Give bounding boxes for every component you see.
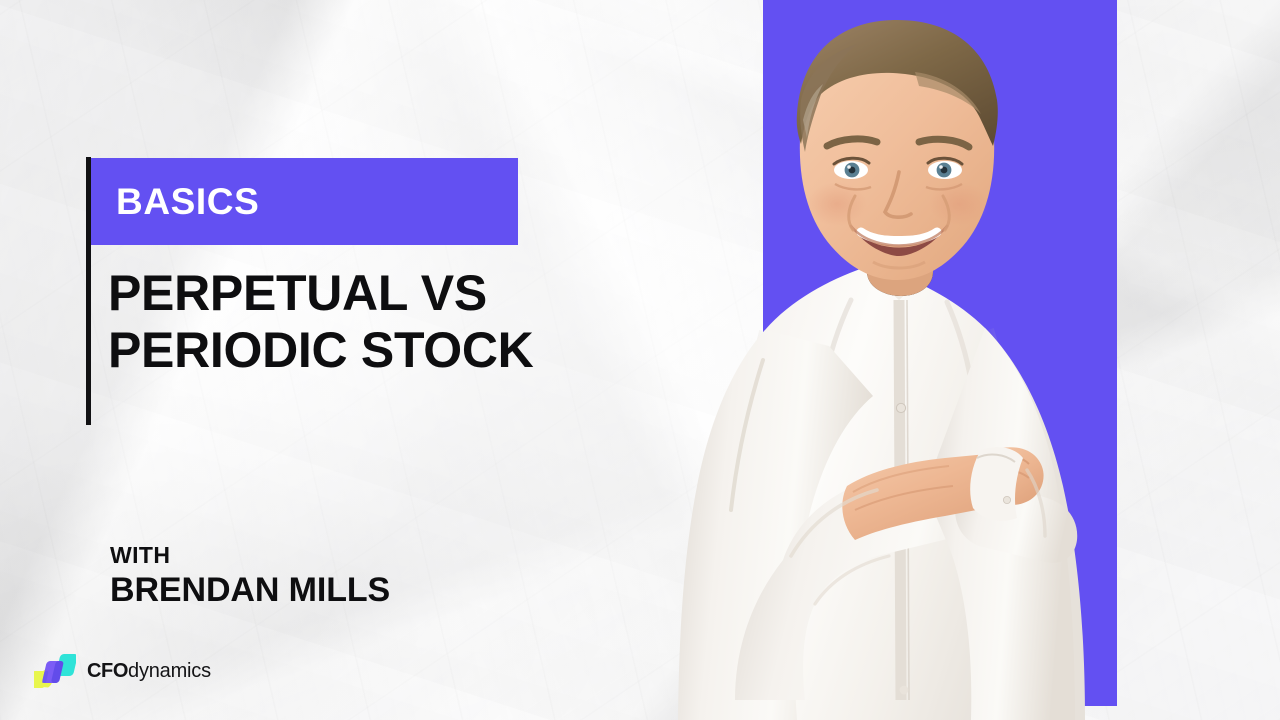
category-badge-label: BASICS (91, 183, 259, 220)
presenter-head (797, 20, 998, 280)
page-title: PERPETUAL VS PERIODIC STOCK (108, 265, 728, 378)
page-title-line-2: PERIODIC STOCK (108, 322, 728, 379)
brand-wordmark: CFOdynamics (87, 661, 211, 681)
presenter-prefix-label: WITH (110, 543, 390, 568)
text-content-column: BASICS PERPETUAL VS PERIODIC STOCK WITH … (0, 0, 763, 720)
category-badge: BASICS (91, 158, 518, 245)
page-title-line-1: PERPETUAL VS (108, 265, 728, 322)
title-card-slide: BASICS PERPETUAL VS PERIODIC STOCK WITH … (0, 0, 1280, 720)
cfodynamics-logo-icon (34, 652, 76, 690)
brand-wordmark-strong: CFO (87, 660, 128, 682)
presenter-credit: WITH BRENDAN MILLS (110, 543, 390, 611)
brand-wordmark-light: dynamics (128, 660, 211, 682)
brand-logo: CFOdynamics (34, 652, 211, 690)
presenter-name-label: BRENDAN MILLS (110, 570, 390, 611)
